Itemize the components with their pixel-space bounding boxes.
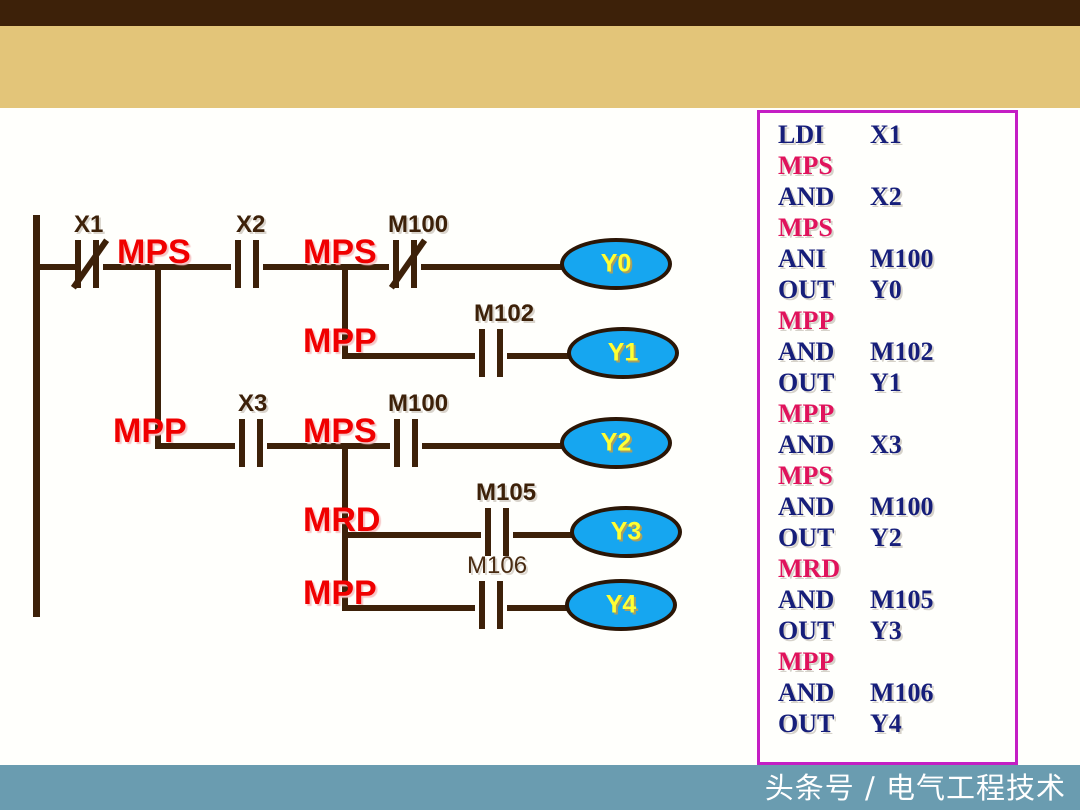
coil-y4[interactable]: Y4 bbox=[565, 579, 677, 631]
contact-label-m106: M106 bbox=[467, 552, 527, 580]
instruction-opcode: AND bbox=[778, 429, 870, 460]
contact-x1[interactable] bbox=[71, 240, 105, 288]
instruction-row: OUTY1 bbox=[778, 367, 934, 398]
instruction-opcode: OUT bbox=[778, 522, 870, 553]
instruction-operand: Y3 bbox=[870, 615, 902, 646]
instruction-opcode: ANI bbox=[778, 243, 870, 274]
coil-y2[interactable]: Y2 bbox=[560, 417, 672, 469]
instruction-operand: M105 bbox=[870, 584, 934, 615]
instruction-opcode: MPS bbox=[778, 150, 870, 181]
rung1-wire-to-coil bbox=[421, 264, 567, 270]
instruction-opcode: AND bbox=[778, 677, 870, 708]
contact-m100-rung2[interactable] bbox=[390, 419, 424, 467]
instruction-row: ANDX2 bbox=[778, 181, 934, 212]
instruction-opcode: MPS bbox=[778, 212, 870, 243]
coil-y3[interactable]: Y3 bbox=[570, 506, 682, 558]
contact-label-m100-rung1: M100 bbox=[388, 211, 448, 239]
instruction-operand: X2 bbox=[870, 181, 902, 212]
instruction-operand: X1 bbox=[870, 119, 902, 150]
instruction-opcode: OUT bbox=[778, 615, 870, 646]
instruction-row: LDIX1 bbox=[778, 119, 934, 150]
instruction-list-panel: LDIX1MPSANDX2MPSANIM100OUTY0MPPANDM102OU… bbox=[757, 110, 1018, 765]
contact-label-m102: M102 bbox=[474, 300, 534, 328]
instruction-list: LDIX1MPSANDX2MPSANIM100OUTY0MPPANDM102OU… bbox=[778, 119, 934, 739]
instruction-row: MRD bbox=[778, 553, 934, 584]
contact-x2[interactable] bbox=[231, 240, 265, 288]
instruction-row: OUTY2 bbox=[778, 522, 934, 553]
instruction-row: MPS bbox=[778, 460, 934, 491]
instruction-opcode: AND bbox=[778, 336, 870, 367]
instruction-operand: Y1 bbox=[870, 367, 902, 398]
ladder-diagram: X1 MPS X2 MPS M100 Y0 MPP M102 bbox=[0, 108, 745, 765]
instruction-row: OUTY3 bbox=[778, 615, 934, 646]
instruction-operand: X3 bbox=[870, 429, 902, 460]
instruction-operand: M100 bbox=[870, 491, 934, 522]
slide-canvas: X1 MPS X2 MPS M100 Y0 MPP M102 bbox=[0, 0, 1080, 810]
rung2-wire-to-coil bbox=[507, 353, 575, 359]
rung4-wire-to-coil bbox=[513, 532, 578, 538]
contact-label-m100-rung2: M100 bbox=[388, 390, 448, 418]
gold-header-band bbox=[0, 26, 1080, 108]
coil-label-y0: Y0 bbox=[564, 250, 668, 279]
contact-m106[interactable] bbox=[475, 581, 509, 629]
contact-label-m105: M105 bbox=[476, 479, 536, 507]
instruction-operand: Y2 bbox=[870, 522, 902, 553]
stack-op-mps-3: MPS bbox=[303, 412, 377, 451]
contact-m102[interactable] bbox=[475, 329, 509, 377]
instruction-row: ANDM100 bbox=[778, 491, 934, 522]
instruction-opcode: OUT bbox=[778, 367, 870, 398]
instruction-operand: M106 bbox=[870, 677, 934, 708]
stack-op-mps-2: MPS bbox=[303, 233, 377, 272]
instruction-row: ANDM105 bbox=[778, 584, 934, 615]
top-decorative-bar bbox=[0, 0, 1080, 26]
instruction-opcode: LDI bbox=[778, 119, 870, 150]
instruction-row: MPP bbox=[778, 305, 934, 336]
coil-label-y1: Y1 bbox=[571, 339, 675, 368]
instruction-opcode: OUT bbox=[778, 274, 870, 305]
instruction-opcode: MPP bbox=[778, 305, 870, 336]
rung3-wire-a bbox=[155, 443, 235, 449]
instruction-operand: M102 bbox=[870, 336, 934, 367]
left-power-rail bbox=[33, 215, 40, 617]
coil-label-y3: Y3 bbox=[574, 518, 678, 547]
instruction-row: OUTY0 bbox=[778, 274, 934, 305]
rung4-wire bbox=[342, 532, 481, 538]
coil-y1[interactable]: Y1 bbox=[567, 327, 679, 379]
instruction-row: MPP bbox=[778, 646, 934, 677]
instruction-row: MPP bbox=[778, 398, 934, 429]
instruction-row: ANIM100 bbox=[778, 243, 934, 274]
contact-label-x3: X3 bbox=[238, 390, 267, 418]
instruction-row: ANDX3 bbox=[778, 429, 934, 460]
instruction-row: ANDM106 bbox=[778, 677, 934, 708]
contact-m105[interactable] bbox=[481, 508, 515, 556]
instruction-opcode: MPP bbox=[778, 398, 870, 429]
rung3-wire-to-coil bbox=[422, 443, 567, 449]
coil-y0[interactable]: Y0 bbox=[560, 238, 672, 290]
instruction-opcode: AND bbox=[778, 491, 870, 522]
rung2-wire bbox=[342, 353, 475, 359]
instruction-opcode: MPS bbox=[778, 460, 870, 491]
contact-label-x1: X1 bbox=[74, 211, 103, 239]
instruction-row: MPS bbox=[778, 150, 934, 181]
contact-x3[interactable] bbox=[235, 419, 269, 467]
instruction-operand: M100 bbox=[870, 243, 934, 274]
instruction-opcode: MPP bbox=[778, 646, 870, 677]
rung5-wire bbox=[342, 605, 475, 611]
instruction-row: ANDM102 bbox=[778, 336, 934, 367]
instruction-opcode: AND bbox=[778, 181, 870, 212]
coil-label-y2: Y2 bbox=[564, 429, 668, 458]
instruction-opcode: OUT bbox=[778, 708, 870, 739]
instruction-operand: Y4 bbox=[870, 708, 902, 739]
instruction-opcode: MRD bbox=[778, 553, 870, 584]
coil-label-y4: Y4 bbox=[569, 591, 673, 620]
instruction-operand: Y0 bbox=[870, 274, 902, 305]
instruction-row: OUTY4 bbox=[778, 708, 934, 739]
contact-m100-rung1[interactable] bbox=[389, 240, 423, 288]
footer-attribution: 头条号 / 电气工程技术 bbox=[765, 766, 1066, 810]
instruction-row: MPS bbox=[778, 212, 934, 243]
instruction-opcode: AND bbox=[778, 584, 870, 615]
contact-label-x2: X2 bbox=[236, 211, 265, 239]
stack-op-mps-1: MPS bbox=[117, 233, 191, 272]
